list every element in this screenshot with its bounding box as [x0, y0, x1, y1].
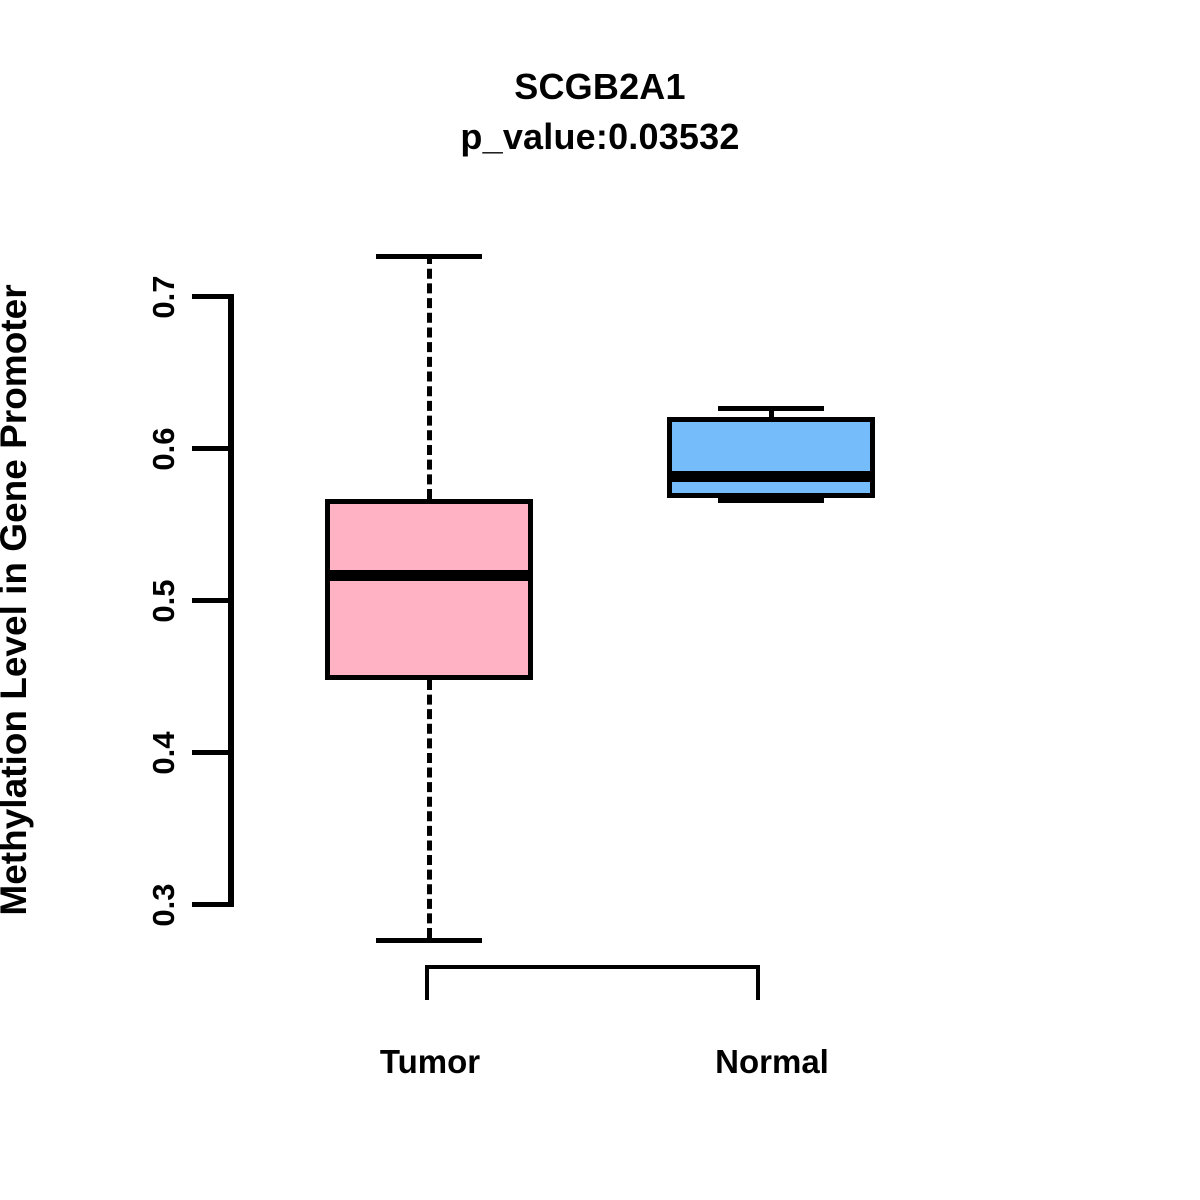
x-axis-bracket-leg-right	[756, 965, 760, 1000]
title-block: SCGB2A1 p_value:0.03532	[0, 62, 1200, 162]
tumor-lower-whisker	[427, 680, 432, 938]
x-axis-label-tumor: Tumor	[330, 1043, 530, 1081]
y-axis-title-text: Methylation Level in Gene Promoter	[0, 284, 35, 915]
y-axis-tick-label-0.5: 0.5	[146, 556, 176, 646]
tumor-lower-whisker-cap	[376, 938, 482, 943]
tumor-box	[325, 499, 533, 680]
y-axis-tick-label-0.3: 0.3	[146, 860, 176, 950]
y-axis-tick-label-0.7: 0.7	[146, 252, 176, 342]
y-axis-tick-0.4	[192, 750, 232, 755]
tumor-median-line	[325, 570, 533, 581]
normal-median-line	[667, 471, 875, 482]
normal-box	[667, 417, 875, 498]
y-axis-tick-0.3	[192, 902, 232, 907]
y-axis-tick-label-0.4: 0.4	[146, 708, 176, 798]
normal-lower-whisker-cap	[718, 498, 824, 503]
y-axis-tick-label-0.6: 0.6	[146, 404, 176, 494]
x-axis-label-normal: Normal	[672, 1043, 872, 1081]
x-axis-bracket-leg-left	[425, 965, 429, 1000]
x-axis-bracket	[425, 965, 760, 969]
boxplot-figure: SCGB2A1 p_value:0.03532 Methylation Leve…	[0, 0, 1200, 1200]
y-axis-tick-0.5	[192, 598, 232, 603]
y-axis-tick-0.6	[192, 446, 232, 451]
y-axis-tick-0.7	[192, 294, 232, 299]
chart-title: SCGB2A1	[0, 62, 1200, 112]
chart-subtitle-pvalue: p_value:0.03532	[0, 112, 1200, 162]
y-axis-title: Methylation Level in Gene Promoter	[0, 0, 52, 1200]
normal-upper-whisker	[769, 406, 774, 417]
tumor-upper-whisker	[427, 254, 432, 499]
